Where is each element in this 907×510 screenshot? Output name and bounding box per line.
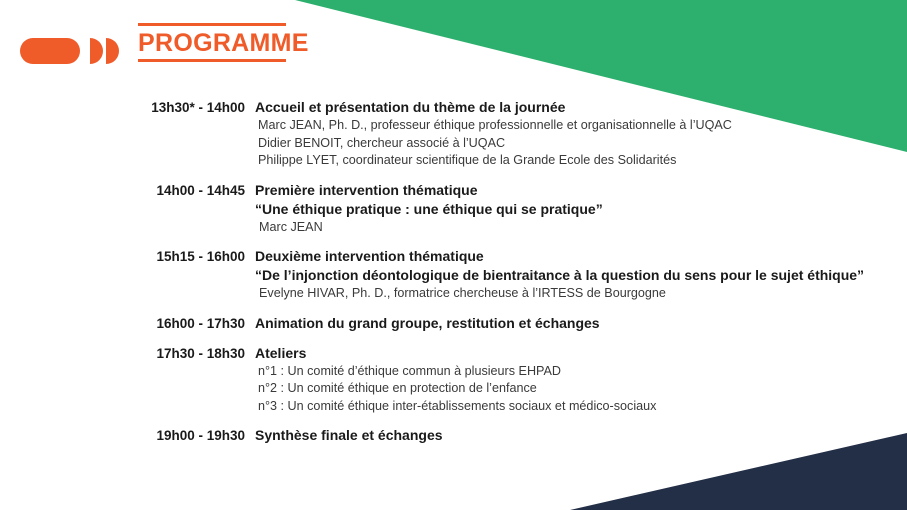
- programme-row-detail: n°3 : Un comité éthique inter-établissem…: [255, 398, 907, 416]
- programme-row: 16h00 - 17h30Animation du grand groupe, …: [0, 314, 907, 333]
- programme-row-time: 13h30* - 14h00: [126, 98, 245, 117]
- programme-row-title: Accueil et présentation du thème de la j…: [255, 98, 907, 117]
- programme-row-time: 19h00 - 19h30: [126, 426, 245, 445]
- programme-row: 19h00 - 19h30Synthèse finale et échanges: [0, 426, 907, 445]
- programme-row-title: Première intervention thématique: [255, 181, 907, 200]
- programme-row-time: 16h00 - 17h30: [126, 314, 245, 333]
- logo-half-disc-two: [106, 38, 119, 64]
- programme-row-time: 17h30 - 18h30: [126, 344, 245, 363]
- logo-half-disc-one: [90, 38, 103, 64]
- programme-row-time: 15h15 - 16h00: [126, 247, 245, 266]
- programme-row-title: Deuxième intervention thématique: [255, 247, 907, 266]
- programme-row-body: Animation du grand groupe, restitution e…: [255, 314, 907, 333]
- programme-row-body: Synthèse finale et échanges: [255, 426, 907, 445]
- programme-row-title: Synthèse finale et échanges: [255, 426, 907, 445]
- programme-row-detail: Marc JEAN, Ph. D., professeur éthique pr…: [255, 117, 907, 135]
- programme-row: 14h00 - 14h45Première intervention théma…: [0, 181, 907, 237]
- programme-row-detail: Didier BENOIT, chercheur associé à l’UQA…: [255, 135, 907, 153]
- programme-row-body: Première intervention thématique“Une éth…: [255, 181, 907, 237]
- programme-row-body: Accueil et présentation du thème de la j…: [255, 98, 907, 170]
- programme-row-title: Ateliers: [255, 344, 907, 363]
- title-rule-bottom: [138, 59, 286, 62]
- programme-row-subtitle: “Une éthique pratique : une éthique qui …: [255, 200, 907, 219]
- programme-row-title: Animation du grand groupe, restitution e…: [255, 314, 907, 333]
- programme-row-detail: Philippe LYET, coordinateur scientifique…: [255, 152, 907, 170]
- programme-row-detail: Marc JEAN: [255, 219, 907, 237]
- programme-row: 17h30 - 18h30Ateliersn°1 : Un comité d’é…: [0, 344, 907, 416]
- programme-row: 13h30* - 14h00Accueil et présentation du…: [0, 98, 907, 170]
- programme-row-body: Deuxième intervention thématique“De l’in…: [255, 247, 907, 303]
- programme-row-detail: n°2 : Un comité éthique en protection de…: [255, 380, 907, 398]
- programme-row: 15h15 - 16h00Deuxième intervention théma…: [0, 247, 907, 303]
- programme-schedule: 13h30* - 14h00Accueil et présentation du…: [0, 98, 907, 456]
- programme-row-body: Ateliersn°1 : Un comité d’éthique commun…: [255, 344, 907, 416]
- page-title: PROGRAMME: [138, 26, 286, 59]
- programme-row-detail: Evelyne HIVAR, Ph. D., formatrice cherch…: [255, 285, 907, 303]
- slide-canvas: PROGRAMME 13h30* - 14h00Accueil et prése…: [0, 0, 907, 510]
- programme-row-time: 14h00 - 14h45: [126, 181, 245, 200]
- brand-logo-icon: [20, 36, 130, 66]
- page-title-block: PROGRAMME: [138, 23, 286, 62]
- programme-row-subtitle: “De l’injonction déontologique de bientr…: [255, 266, 907, 285]
- logo-pill-shape: [20, 38, 80, 64]
- programme-row-detail: n°1 : Un comité d’éthique commun à plusi…: [255, 363, 907, 381]
